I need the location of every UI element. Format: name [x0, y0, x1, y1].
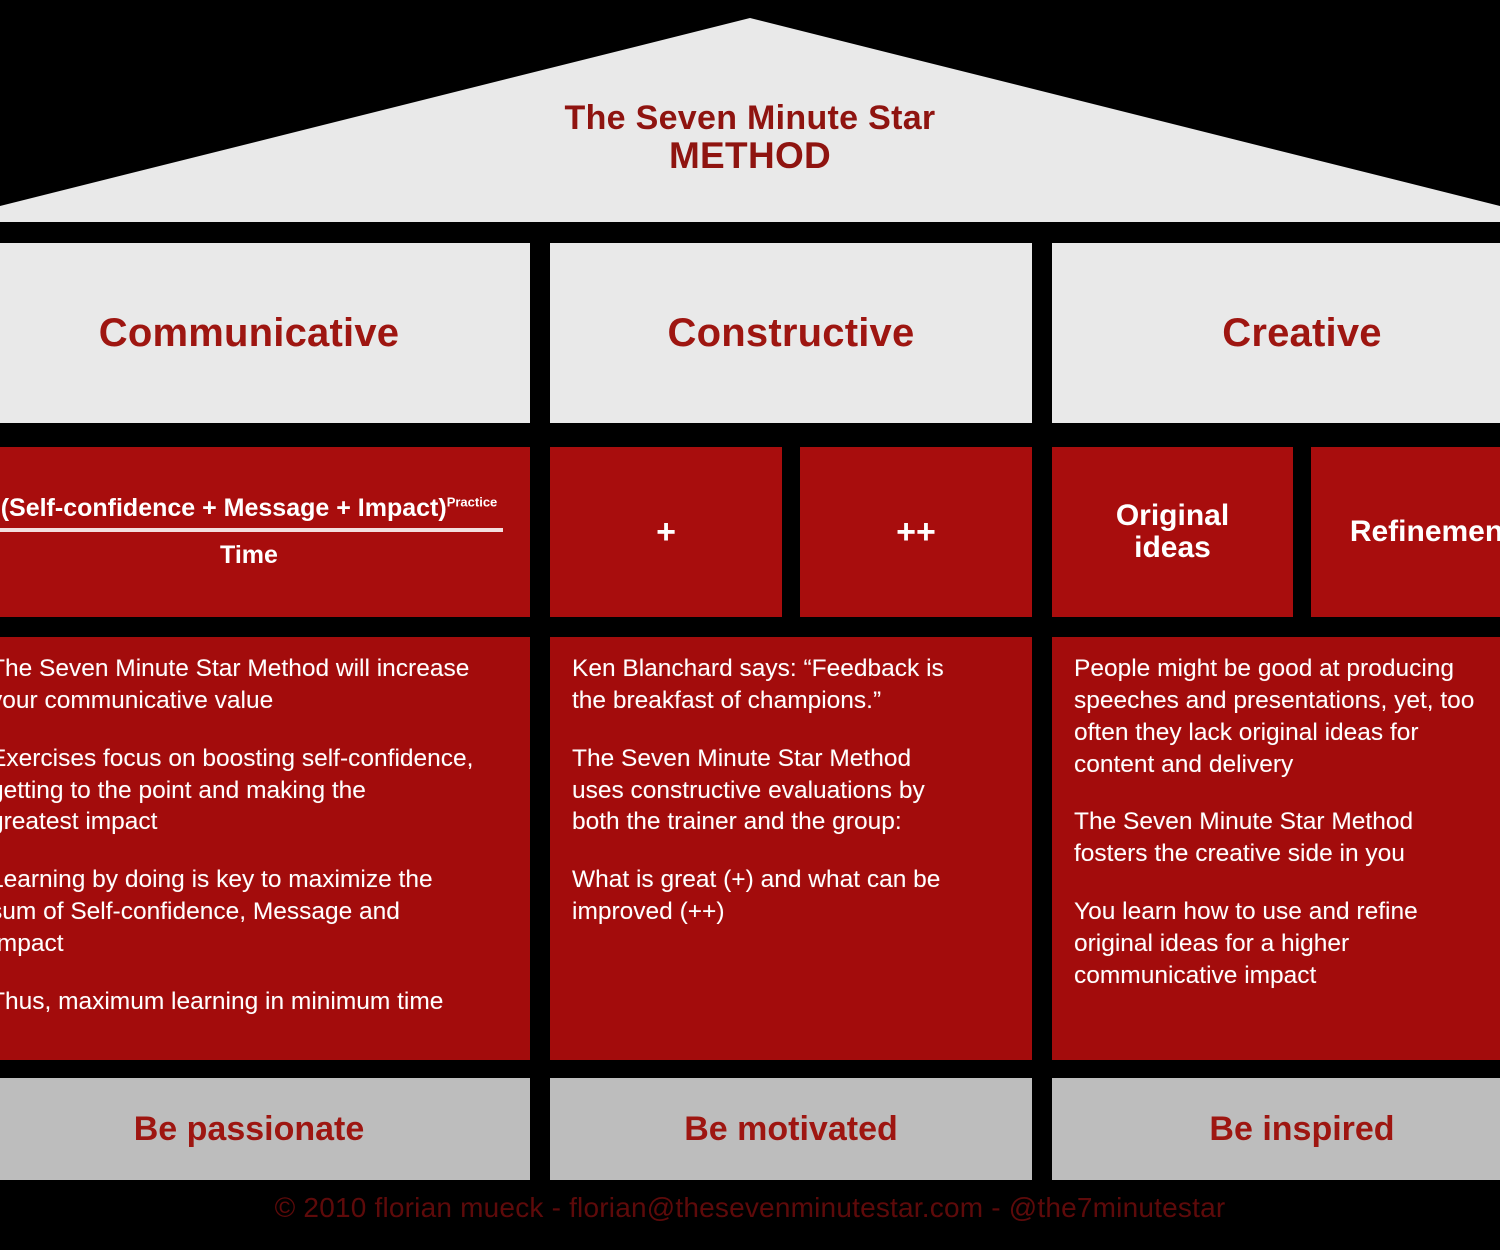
body-paragraph: Ken Blanchard says: “Feedback is the bre…: [572, 653, 1010, 717]
footer-label: Be motivated: [684, 1110, 898, 1149]
plus-box: +: [550, 447, 782, 617]
column-header-creative: Creative: [1052, 243, 1500, 423]
column-header-label: Creative: [1222, 311, 1381, 356]
column-header-communicative: Communicative: [0, 243, 530, 423]
plus-label: +: [656, 514, 676, 551]
subbox-row-creative: Original ideas Refinement: [1052, 447, 1500, 617]
formula-numerator-text: (Self-confidence + Message + Impact): [1, 494, 447, 522]
body-paragraph: People might be good at producing speech…: [1074, 653, 1500, 780]
column-header-label: Constructive: [668, 311, 915, 356]
footer-box-communicative: Be passionate: [0, 1078, 530, 1180]
body-paragraph: The Seven Minute Star Method uses constr…: [572, 743, 1010, 839]
formula-numerator: (Self-confidence + Message + Impact)Prac…: [0, 494, 503, 532]
subbox-row-constructive: + ++: [550, 447, 1032, 617]
footer-box-constructive: Be motivated: [550, 1078, 1032, 1180]
body-paragraph: The Seven Minute Star Method fosters the…: [1074, 806, 1500, 870]
formula-box: (Self-confidence + Message + Impact)Prac…: [0, 447, 530, 617]
communicative-formula: (Self-confidence + Message + Impact)Prac…: [0, 494, 503, 570]
body-box-constructive: Ken Blanchard says: “Feedback is the bre…: [550, 637, 1032, 1060]
body-paragraph: The Seven Minute Star Method will increa…: [0, 653, 508, 717]
footer-box-creative: Be inspired: [1052, 1078, 1500, 1180]
double-plus-label: ++: [896, 514, 936, 551]
original-ideas-box: Original ideas: [1052, 447, 1293, 617]
body-box-communicative: The Seven Minute Star Method will increa…: [0, 637, 530, 1060]
body-paragraph: Exercises focus on boosting self-confide…: [0, 743, 508, 839]
column-header-label: Communicative: [99, 311, 399, 356]
formula-exponent: Practice: [447, 495, 498, 510]
pillar-columns: Communicative (Self-confidence + Message…: [0, 0, 1500, 1250]
refinement-label: Refinement: [1350, 516, 1500, 548]
body-paragraph: You learn how to use and refine original…: [1074, 896, 1500, 992]
original-ideas-label: Original ideas: [1116, 500, 1229, 565]
formula-denominator: Time: [0, 532, 503, 570]
copyright-notice: © 2010 florian mueck - florian@thesevenm…: [0, 1192, 1500, 1224]
double-plus-box: ++: [800, 447, 1032, 617]
column-header-constructive: Constructive: [550, 243, 1032, 423]
subbox-row-communicative: (Self-confidence + Message + Impact)Prac…: [0, 447, 530, 617]
diagram-canvas: The Seven Minute Star METHOD Communicati…: [0, 0, 1500, 1250]
footer-label: Be passionate: [134, 1110, 365, 1149]
body-paragraph: Learning by doing is key to maximize the…: [0, 864, 508, 960]
body-paragraph: Thus, maximum learning in minimum time: [0, 986, 508, 1018]
footer-label: Be inspired: [1209, 1110, 1394, 1149]
body-paragraph: What is great (+) and what can be improv…: [572, 864, 1010, 928]
refinement-box: Refinement: [1311, 447, 1500, 617]
body-box-creative: People might be good at producing speech…: [1052, 637, 1500, 1060]
